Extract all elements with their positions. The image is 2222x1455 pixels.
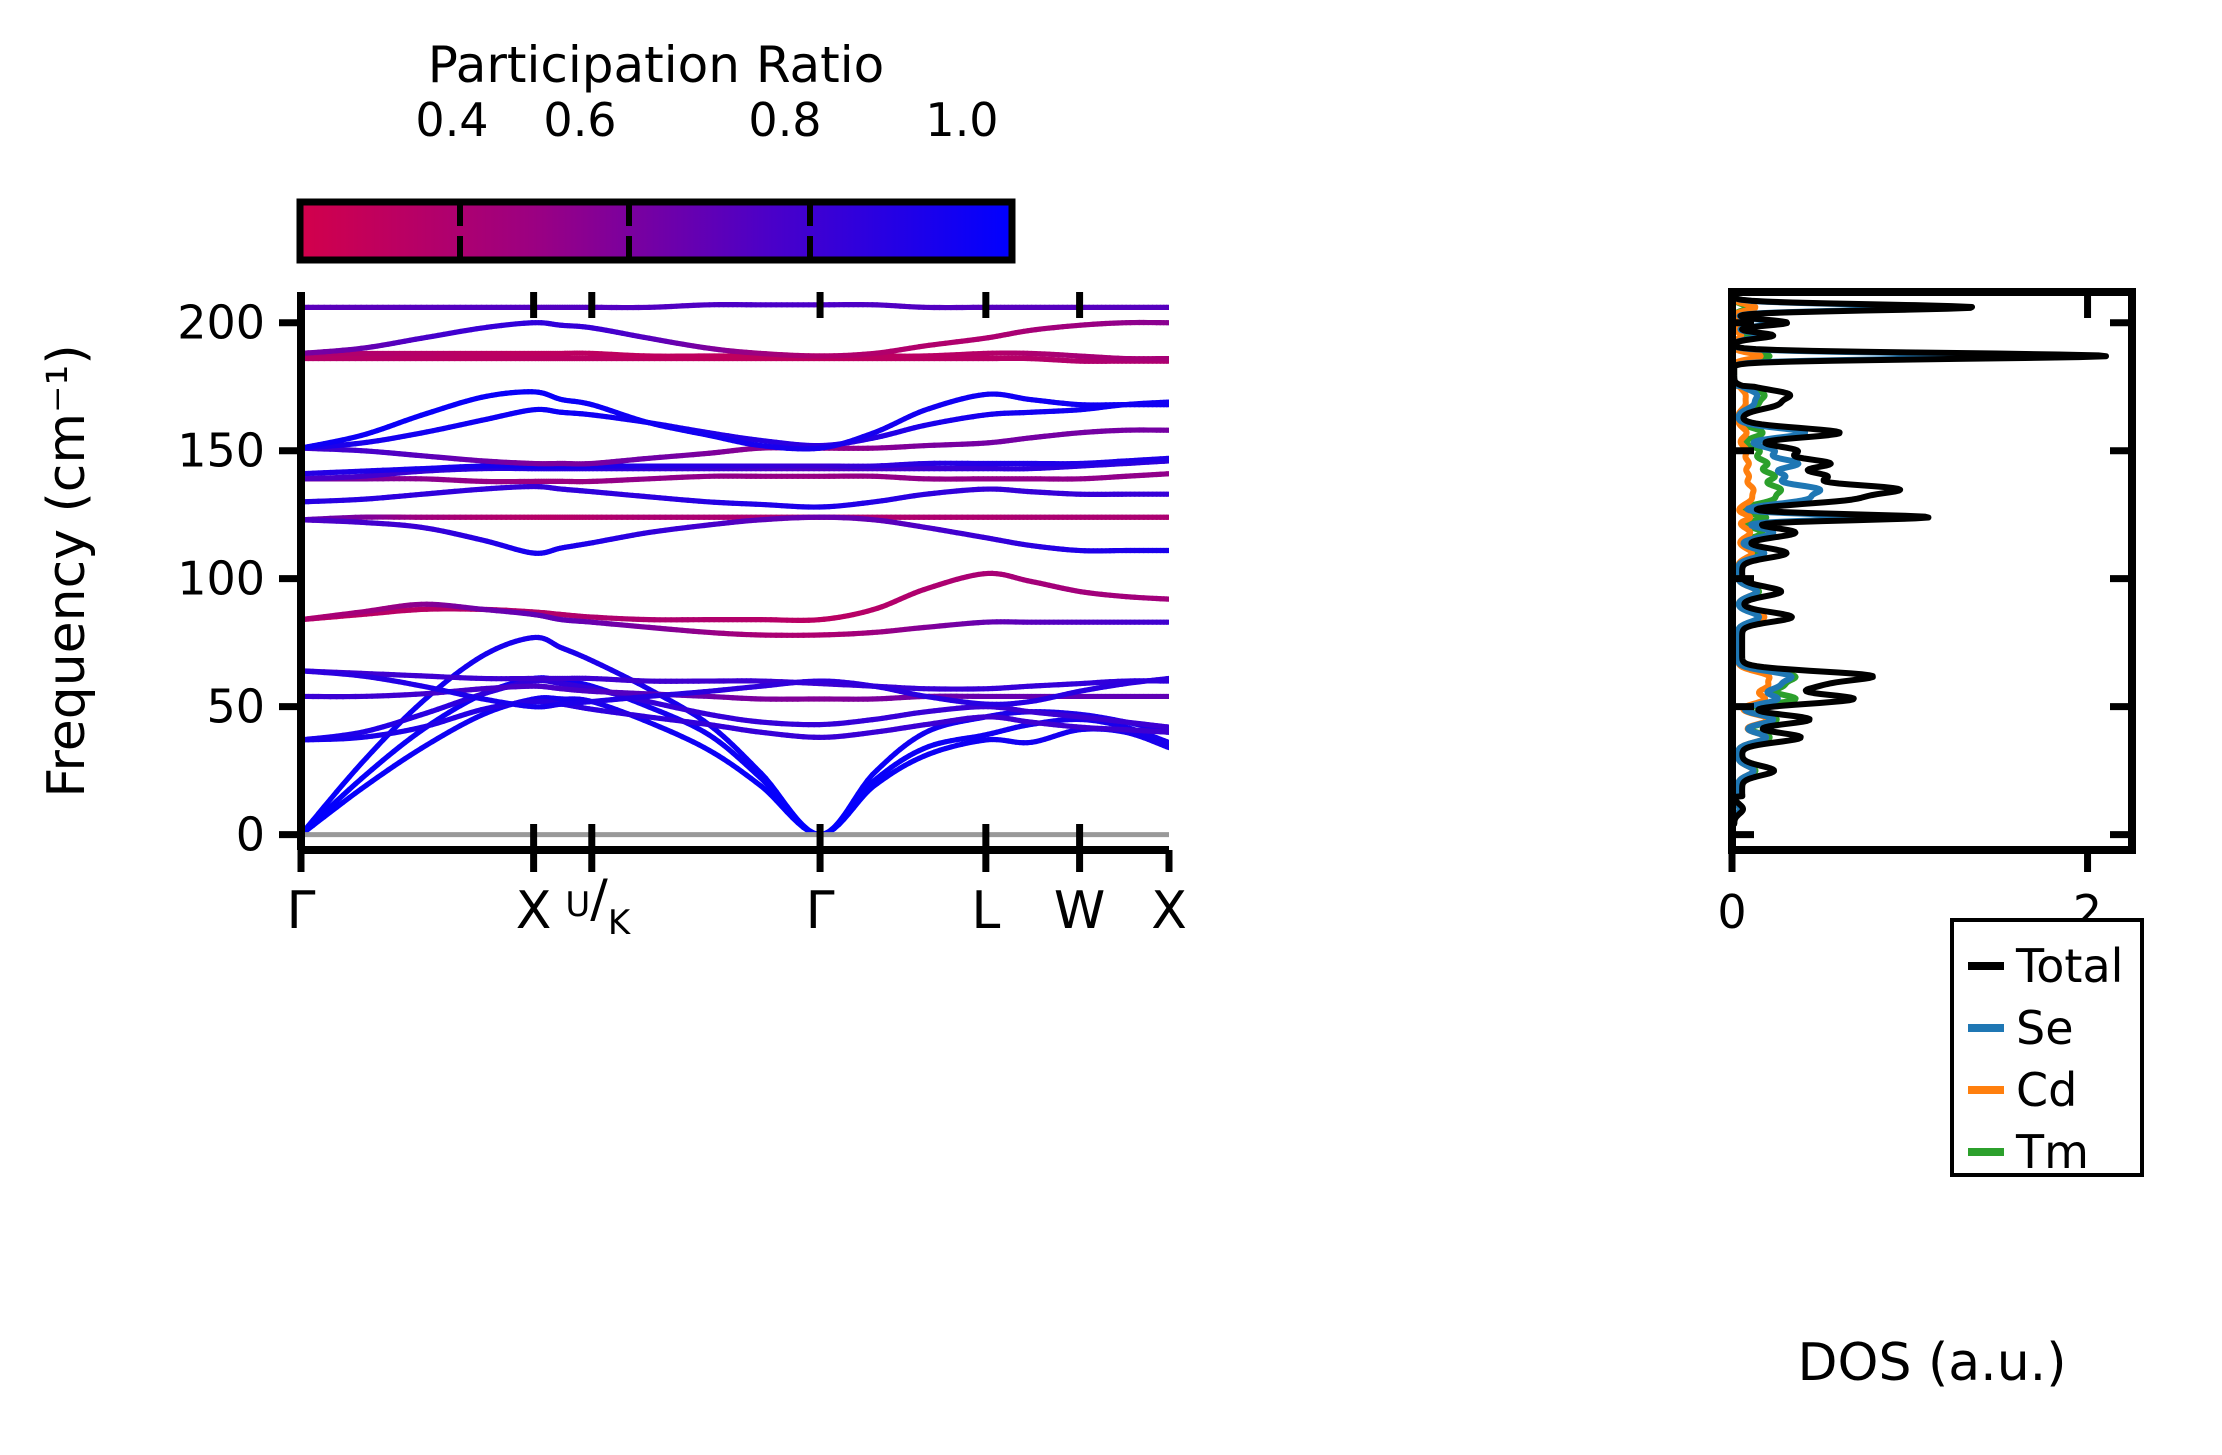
colorbar-gradient <box>300 202 1012 260</box>
legend-label[interactable]: Se <box>2016 1001 2074 1055</box>
kpoint-label: Γ <box>287 881 316 941</box>
kpoint-label: X <box>516 881 552 941</box>
dos-xtick-label: 0 <box>1717 885 1746 939</box>
band-ytick-labels: 050100150200 <box>177 296 265 862</box>
kpoint-label-fraction: U/K <box>565 869 631 943</box>
band-curve <box>301 305 1169 308</box>
phonon-figure-svg: Participation Ratio 0.4 0.6 0.8 1.0 Freq… <box>0 0 2222 1455</box>
band-curve <box>301 517 1169 520</box>
kpoint-label: L <box>971 881 1000 941</box>
band-curve <box>301 358 1169 361</box>
kpoint-label: Γ <box>806 881 835 941</box>
kpoint-label: W <box>1054 881 1105 941</box>
dos-panel: 02 DOS (a.u.) TotalSeCdTm <box>1717 292 2142 1393</box>
colorbar-tick-0: 0.4 <box>415 93 488 147</box>
band-ytick-label: 100 <box>177 552 265 606</box>
band-ytick-label: 50 <box>206 680 265 734</box>
colorbar-tick-3: 1.0 <box>925 93 998 147</box>
legend-label[interactable]: Cd <box>2016 1063 2077 1117</box>
colorbar-tick-labels: 0.4 0.6 0.8 1.0 <box>415 93 998 147</box>
band-ytick-label: 0 <box>236 808 265 862</box>
colorbar-group: Participation Ratio 0.4 0.6 0.8 1.0 <box>300 36 1012 260</box>
band-panel: Frequency (cm⁻¹) 050100150200 ΓXU/KΓLWX <box>37 292 1187 943</box>
band-ylabel: Frequency (cm⁻¹) <box>37 344 97 797</box>
colorbar-tick-2: 0.8 <box>748 93 821 147</box>
band-ytick-label: 200 <box>177 296 265 350</box>
band-xtick-labels: ΓXU/KΓLWX <box>287 869 1187 943</box>
colorbar-title: Participation Ratio <box>428 36 884 94</box>
legend-label[interactable]: Total <box>2015 939 2123 993</box>
band-segment <box>1167 742 1169 743</box>
dos-plot-area <box>1732 292 2132 850</box>
dos-legend[interactable]: TotalSeCdTm <box>1952 920 2142 1179</box>
legend-label[interactable]: Tm <box>2015 1125 2089 1179</box>
kpoint-label: X <box>1151 881 1187 941</box>
dos-xlabel: DOS (a.u.) <box>1798 1333 2067 1393</box>
figure-root: Participation Ratio 0.4 0.6 0.8 1.0 Freq… <box>0 0 2222 1455</box>
colorbar-tick-1: 0.6 <box>543 93 616 147</box>
band-ytick-label: 150 <box>177 424 265 478</box>
band-segment <box>1167 747 1169 748</box>
